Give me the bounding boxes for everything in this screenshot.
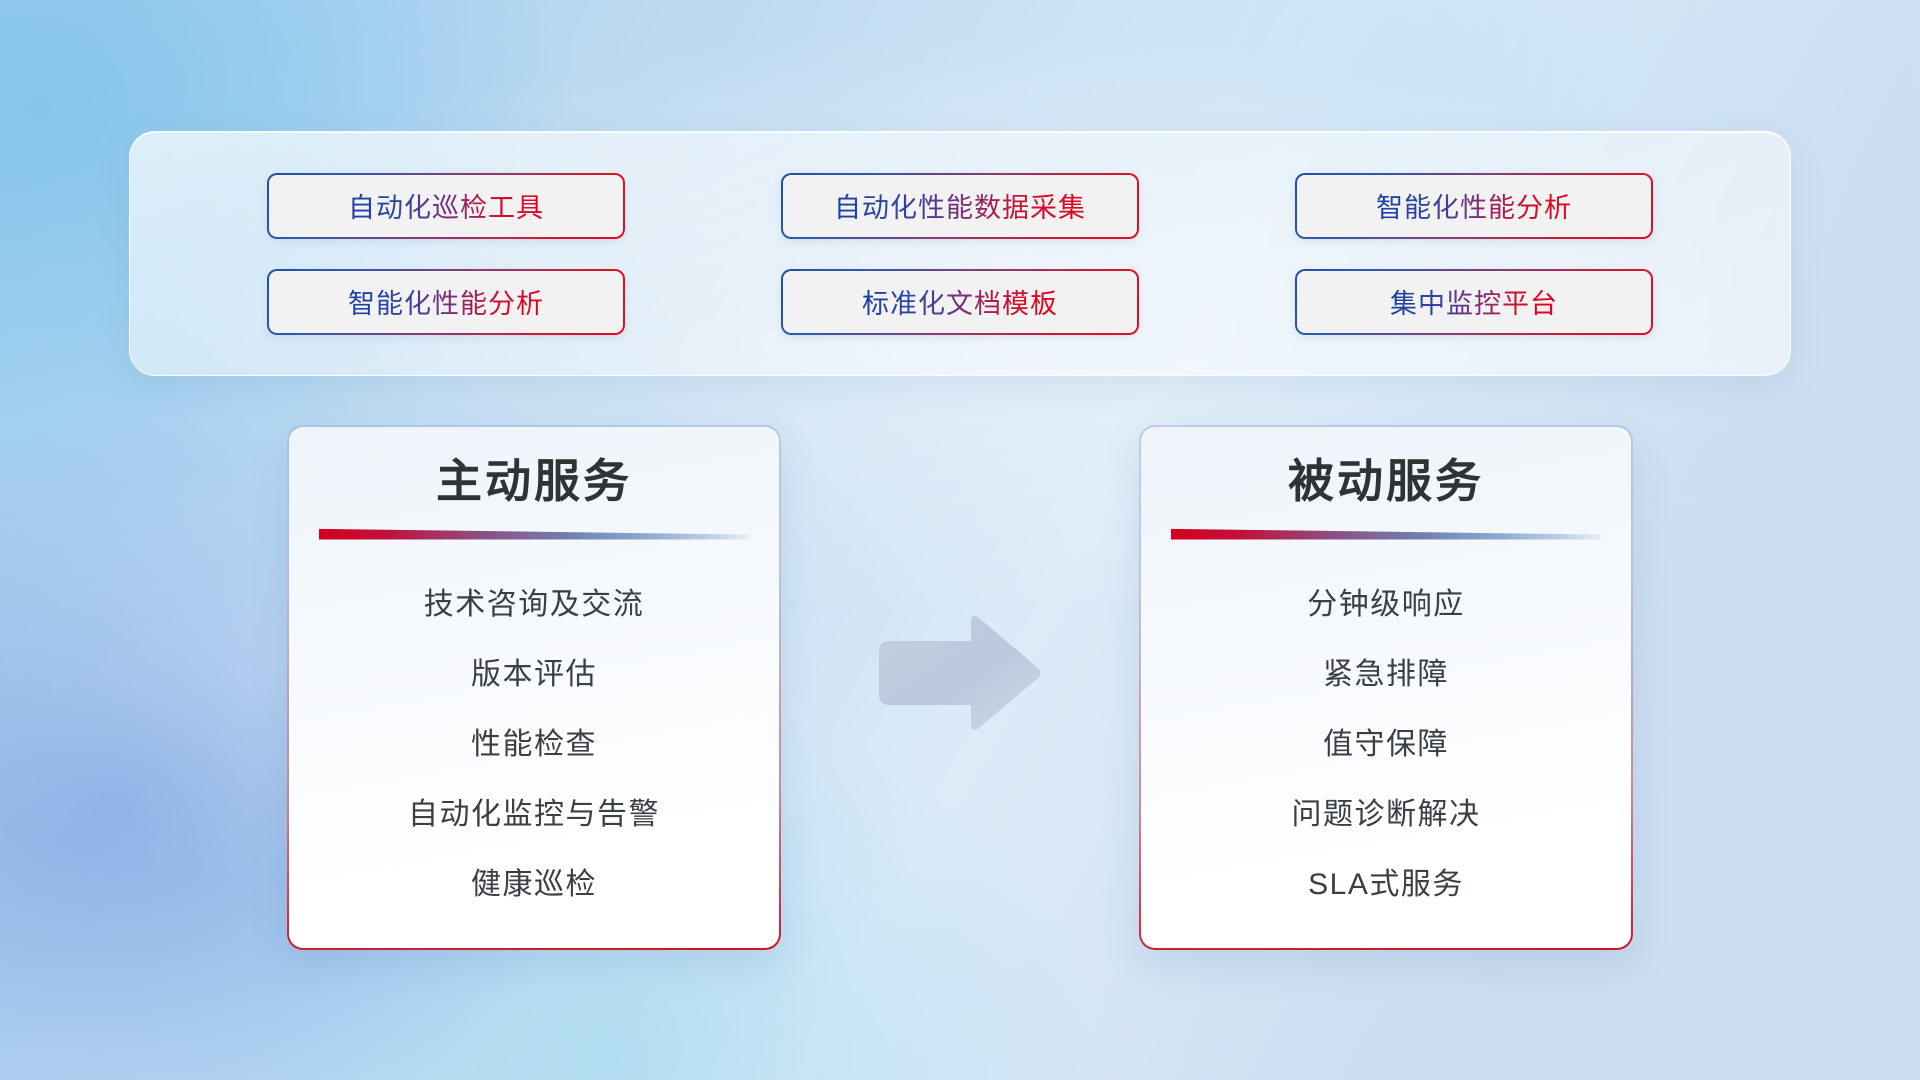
arrow-right-icon — [875, 613, 1043, 733]
service-card-reactive-title: 被动服务 — [1288, 453, 1484, 511]
service-card-proactive-list: 技术咨询及交流 版本评估 性能检查 自动化监控与告警 健康巡检 — [289, 570, 779, 920]
capability-pill-5-label: 标准化文档模板 — [862, 282, 1058, 321]
service-card-proactive-divider — [319, 527, 749, 540]
capability-pill-2-inner: 自动化性能数据采集 — [783, 175, 1137, 237]
divider-gradient-bar — [319, 527, 749, 540]
list-item: 技术咨询及交流 — [424, 570, 645, 640]
capability-pill-3-label: 智能化性能分析 — [1376, 186, 1572, 225]
capability-panel: 自动化巡检工具 自动化性能数据采集 智能化性能分析 智能化性能分析 — [129, 131, 1791, 376]
list-item: 紧急排障 — [1323, 640, 1449, 710]
capability-pill-4-inner: 智能化性能分析 — [269, 271, 623, 333]
capability-pill-grid: 自动化巡检工具 自动化性能数据采集 智能化性能分析 智能化性能分析 — [130, 173, 1790, 335]
list-item: SLA式服务 — [1308, 850, 1464, 920]
capability-pill-5-inner: 标准化文档模板 — [783, 271, 1137, 333]
list-item: 分钟级响应 — [1307, 570, 1465, 640]
list-item: 健康巡检 — [471, 850, 597, 920]
service-card-reactive-list: 分钟级响应 紧急排障 值守保障 问题诊断解决 SLA式服务 — [1141, 570, 1631, 920]
capability-pill-6-inner: 集中监控平台 — [1297, 271, 1651, 333]
capability-pill-6[interactable]: 集中监控平台 — [1295, 269, 1653, 335]
service-card-reactive[interactable]: 被动服务 分钟级响应 紧急排障 值守保障 问题诊断解决 SLA式服务 — [1139, 425, 1633, 950]
list-item: 自动化监控与告警 — [408, 780, 660, 850]
capability-pill-4[interactable]: 智能化性能分析 — [267, 269, 625, 335]
capability-pill-2[interactable]: 自动化性能数据采集 — [781, 173, 1139, 239]
capability-pill-3-inner: 智能化性能分析 — [1297, 175, 1651, 237]
service-card-proactive[interactable]: 主动服务 技术咨询及交流 版本评估 性能检查 自动化监控与告警 健康巡检 — [287, 425, 781, 950]
service-card-reactive-divider — [1171, 527, 1601, 540]
capability-pill-1[interactable]: 自动化巡检工具 — [267, 173, 625, 239]
capability-pill-2-label: 自动化性能数据采集 — [834, 186, 1086, 225]
list-item: 版本评估 — [471, 640, 597, 710]
service-card-reactive-inner: 被动服务 分钟级响应 紧急排障 值守保障 问题诊断解决 SLA式服务 — [1141, 427, 1631, 948]
list-item: 性能检查 — [471, 710, 597, 780]
slide-canvas: 自动化巡检工具 自动化性能数据采集 智能化性能分析 智能化性能分析 — [0, 0, 1920, 1080]
capability-pill-6-label: 集中监控平台 — [1390, 282, 1558, 321]
list-item: 问题诊断解决 — [1292, 780, 1481, 850]
capability-pill-5[interactable]: 标准化文档模板 — [781, 269, 1139, 335]
service-card-proactive-title: 主动服务 — [436, 453, 632, 511]
service-card-proactive-inner: 主动服务 技术咨询及交流 版本评估 性能检查 自动化监控与告警 健康巡检 — [289, 427, 779, 948]
capability-pill-1-inner: 自动化巡检工具 — [269, 175, 623, 237]
capability-pill-3[interactable]: 智能化性能分析 — [1295, 173, 1653, 239]
capability-pill-4-label: 智能化性能分析 — [348, 282, 544, 321]
divider-gradient-bar — [1171, 527, 1601, 540]
list-item: 值守保障 — [1323, 710, 1449, 780]
capability-pill-1-label: 自动化巡检工具 — [348, 186, 544, 225]
